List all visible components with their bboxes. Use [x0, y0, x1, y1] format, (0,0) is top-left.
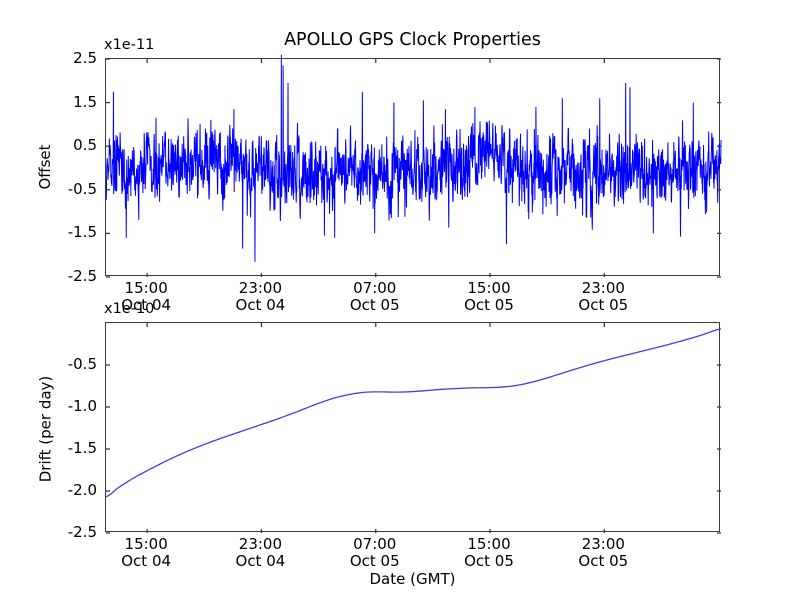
x-tick-label: 15:00Oct 05 — [464, 536, 514, 570]
x-tick-label: 07:00Oct 05 — [350, 280, 400, 314]
drift-series-canvas — [106, 323, 721, 533]
drift-x-axis-label: Date (GMT) — [105, 570, 720, 588]
x-tick-label: 15:00Oct 04 — [121, 536, 171, 570]
x-tick-label: 07:00Oct 05 — [350, 536, 400, 570]
x-tick-label: 23:00Oct 04 — [236, 280, 286, 314]
figure-title: APOLLO GPS Clock Properties — [105, 30, 720, 50]
x-tick-date: Oct 05 — [464, 553, 514, 570]
x-tick-date: Oct 05 — [578, 297, 628, 314]
offset-plot-area — [105, 58, 720, 276]
y-tick-label: -1.0 — [37, 397, 97, 415]
x-tick-date: Oct 04 — [236, 297, 286, 314]
offset-exponent-label: x1e-11 — [104, 37, 154, 53]
x-tick-time: 07:00 — [350, 536, 400, 553]
y-tick-label: -1.5 — [37, 223, 97, 241]
y-tick-label: 0.5 — [37, 136, 97, 154]
x-tick-label: 23:00Oct 05 — [578, 280, 628, 314]
drift-y-axis-label: Drift (per day) — [37, 357, 55, 502]
y-tick-label: -2.0 — [37, 481, 97, 499]
x-tick-time: 07:00 — [350, 280, 400, 297]
y-tick-label: -0.5 — [37, 180, 97, 198]
y-tick-label: -1.5 — [37, 439, 97, 457]
x-tick-date: Oct 05 — [350, 553, 400, 570]
y-tick-label: 2.5 — [37, 49, 97, 67]
x-tick-date: Oct 05 — [464, 297, 514, 314]
x-tick-label: 23:00Oct 05 — [578, 536, 628, 570]
drift-plot-area — [105, 322, 720, 532]
x-tick-time: 23:00 — [578, 280, 628, 297]
y-tick-label: 1.5 — [37, 93, 97, 111]
x-tick-label: 15:00Oct 05 — [464, 280, 514, 314]
x-tick-time: 23:00 — [578, 536, 628, 553]
x-tick-time: 23:00 — [236, 536, 286, 553]
x-tick-time: 23:00 — [236, 280, 286, 297]
y-tick-label: -2.5 — [37, 267, 97, 285]
x-tick-date: Oct 05 — [350, 297, 400, 314]
y-tick-label: -0.5 — [37, 355, 97, 373]
drift-line — [106, 329, 721, 497]
drift-exponent-label: x1e-10 — [104, 301, 154, 317]
x-tick-time: 15:00 — [121, 536, 171, 553]
x-tick-date: Oct 04 — [121, 553, 171, 570]
offset-line — [106, 55, 721, 262]
x-tick-label: 23:00Oct 04 — [236, 536, 286, 570]
x-tick-time: 15:00 — [121, 280, 171, 297]
offset-y-axis-label: Offset — [36, 117, 54, 217]
offset-series-canvas — [106, 59, 721, 277]
x-tick-date: Oct 04 — [236, 553, 286, 570]
x-tick-date: Oct 05 — [578, 553, 628, 570]
matplotlib-figure: APOLLO GPS Clock Properties x1e-11 Offse… — [0, 0, 800, 600]
y-tick-label: -2.5 — [37, 523, 97, 541]
x-tick-time: 15:00 — [464, 280, 514, 297]
x-tick-time: 15:00 — [464, 536, 514, 553]
